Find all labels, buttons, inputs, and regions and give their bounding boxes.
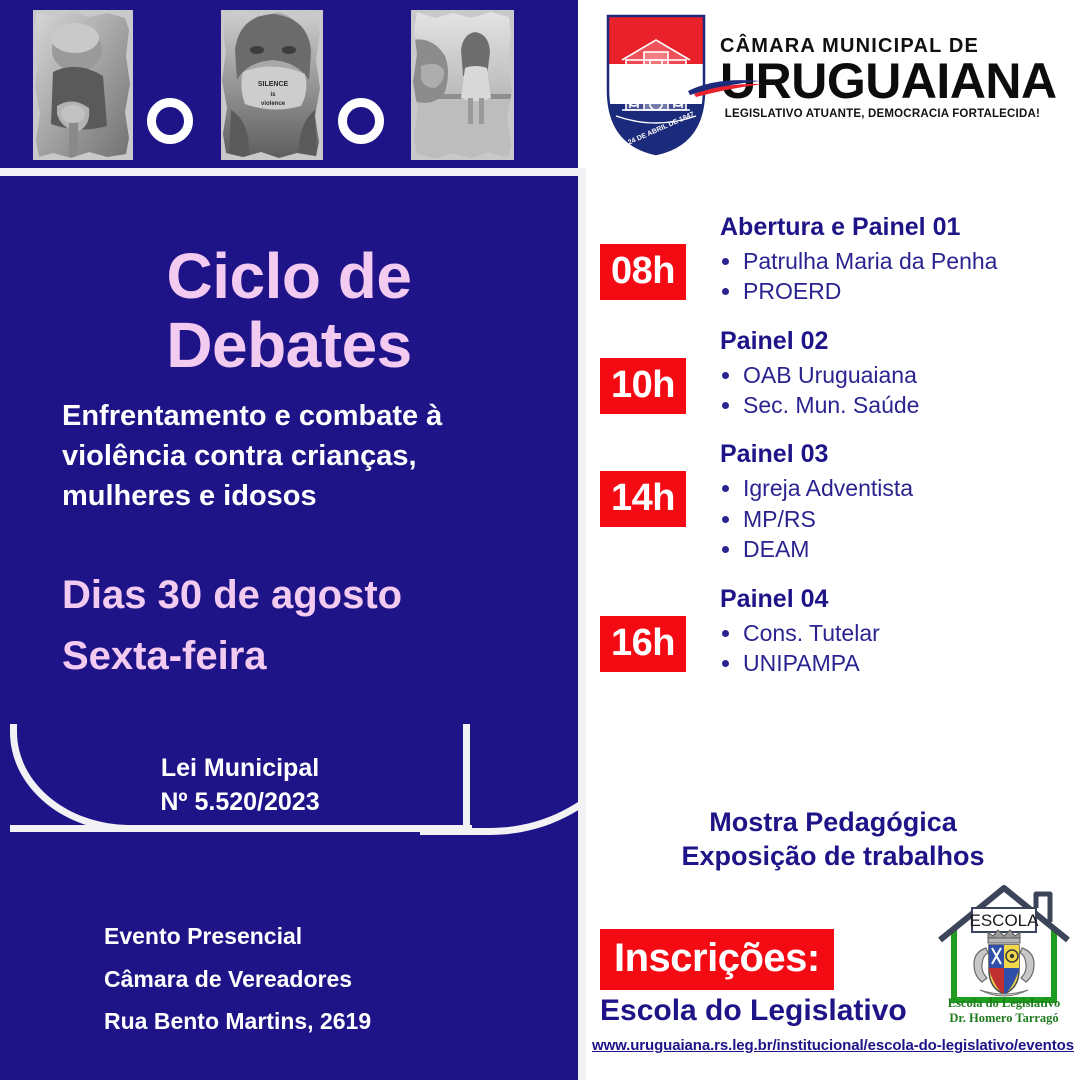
- law-reference: Lei Municipal Nº 5.520/2023: [10, 752, 470, 820]
- silenced-woman-photo: SILENCE is violence: [221, 10, 323, 160]
- event-date: Dias 30 de agosto Sexta-feira: [62, 565, 532, 687]
- schedule-row: 08h Abertura e Painel 01 Patrulha Maria …: [600, 212, 1070, 307]
- list-item: DEAM: [743, 534, 1070, 564]
- institution-header: 24 DE ABRIL DE 1847 CÂMARA MUNICIPAL DE …: [594, 12, 1080, 162]
- wordmark-slogan: LEGISLATIVO ATUANTE, DEMOCRACIA FORTALEC…: [720, 109, 1040, 121]
- panel-items: Cons. Tutelar UNIPAMPA: [720, 618, 1070, 679]
- escola-caption-line-2: Dr. Homero Tarragó: [932, 1011, 1076, 1026]
- schedule-body: Painel 03 Igreja Adventista MP/RS DEAM: [720, 439, 1070, 564]
- title-line-2: Debates: [0, 311, 578, 380]
- column-seam-rule: [578, 176, 586, 1080]
- right-panel: 24 DE ABRIL DE 1847 CÂMARA MUNICIPAL DE …: [586, 0, 1080, 1080]
- panel-title: Painel 02: [720, 326, 1070, 356]
- photo-collage-band: SILENCE is violence: [0, 0, 578, 168]
- venue-info: Evento Presencial Câmara de Vereadores R…: [104, 915, 524, 1043]
- time-badge: 08h: [600, 244, 686, 300]
- list-item: Patrulha Maria da Penha: [743, 246, 1070, 276]
- ring-divider-1: [147, 98, 193, 144]
- schedule-body: Painel 04 Cons. Tutelar UNIPAMPA: [720, 584, 1070, 679]
- list-item: UNIPAMPA: [743, 648, 1070, 678]
- title-line-1: Ciclo de: [0, 242, 578, 311]
- list-item: MP/RS: [743, 504, 1070, 534]
- venue-name: Câmara de Vereadores: [104, 958, 524, 1001]
- mostra-pedagogica: Mostra Pedagógica Exposição de trabalhos: [586, 806, 1080, 874]
- escola-caption-line-1: Escola do Legislativo: [932, 996, 1076, 1011]
- panel-title: Painel 03: [720, 439, 1070, 469]
- list-item: PROERD: [743, 276, 1070, 306]
- photo-band-divider: [0, 168, 578, 176]
- schedule-row: 16h Painel 04 Cons. Tutelar UNIPAMPA: [600, 584, 1070, 679]
- panel-items: Patrulha Maria da Penha PROERD: [720, 246, 1070, 307]
- list-item: Sec. Mun. Saúde: [743, 390, 1070, 420]
- camara-wordmark: CÂMARA MUNICIPAL DE URUGUAIANA LEGISLATI…: [720, 36, 1070, 120]
- event-date-day: Dias 30 de agosto: [62, 565, 532, 626]
- law-number: Nº 5.520/2023: [10, 786, 470, 820]
- law-label: Lei Municipal: [10, 752, 470, 786]
- venue-address: Rua Bento Martins, 2619: [104, 1000, 524, 1043]
- event-date-weekday: Sexta-feira: [62, 626, 532, 687]
- venue-format: Evento Presencial: [104, 915, 524, 958]
- svg-text:violence: violence: [261, 101, 286, 107]
- mostra-line-2: Exposição de trabalhos: [586, 840, 1080, 874]
- schedule-list: 08h Abertura e Painel 01 Patrulha Maria …: [600, 212, 1070, 697]
- page-title: Ciclo de Debates: [0, 242, 578, 380]
- schedule-body: Abertura e Painel 01 Patrulha Maria da P…: [720, 212, 1070, 307]
- list-item: OAB Uruguaiana: [743, 360, 1070, 390]
- svg-text:SILENCE: SILENCE: [258, 81, 289, 88]
- wordmark-city: URUGUAIANA: [720, 58, 1070, 106]
- list-item: Cons. Tutelar: [743, 618, 1070, 648]
- inscricoes-subtitle: Escola do Legislativo: [600, 996, 907, 1026]
- panel-title: Abertura e Painel 01: [720, 212, 1070, 242]
- ring-divider-2: [338, 98, 384, 144]
- wordmark-swoosh-icon: [686, 75, 764, 97]
- panel-items: Igreja Adventista MP/RS DEAM: [720, 473, 1070, 564]
- panel-title: Painel 04: [720, 584, 1070, 614]
- elderly-man-photo: [33, 10, 133, 160]
- time-badge: 10h: [600, 358, 686, 414]
- svg-text:is: is: [270, 92, 276, 98]
- child-photo: [411, 10, 514, 160]
- left-panel: SILENCE is violence: [0, 0, 578, 1080]
- schedule-row: 14h Painel 03 Igreja Adventista MP/RS DE…: [600, 439, 1070, 564]
- escola-sign-text: ESCOLA: [970, 911, 1040, 930]
- time-badge: 14h: [600, 471, 686, 527]
- inscricoes-badge: Inscrições:: [600, 929, 834, 990]
- schedule-row: 10h Painel 02 OAB Uruguaiana Sec. Mun. S…: [600, 326, 1070, 421]
- time-badge: 16h: [600, 616, 686, 672]
- registration-url-link[interactable]: www.uruguaiana.rs.leg.br/institucional/e…: [586, 1037, 1080, 1054]
- escola-logo-caption: Escola do Legislativo Dr. Homero Tarragó: [932, 996, 1076, 1027]
- law-outline-base: [10, 825, 472, 832]
- list-item: Igreja Adventista: [743, 473, 1070, 503]
- schedule-body: Painel 02 OAB Uruguaiana Sec. Mun. Saúde: [720, 326, 1070, 421]
- mostra-line-1: Mostra Pedagógica: [586, 806, 1080, 840]
- event-subtitle: Enfrentamento e combate à violência cont…: [62, 396, 522, 516]
- event-poster: SILENCE is violence: [0, 0, 1080, 1080]
- panel-items: OAB Uruguaiana Sec. Mun. Saúde: [720, 360, 1070, 421]
